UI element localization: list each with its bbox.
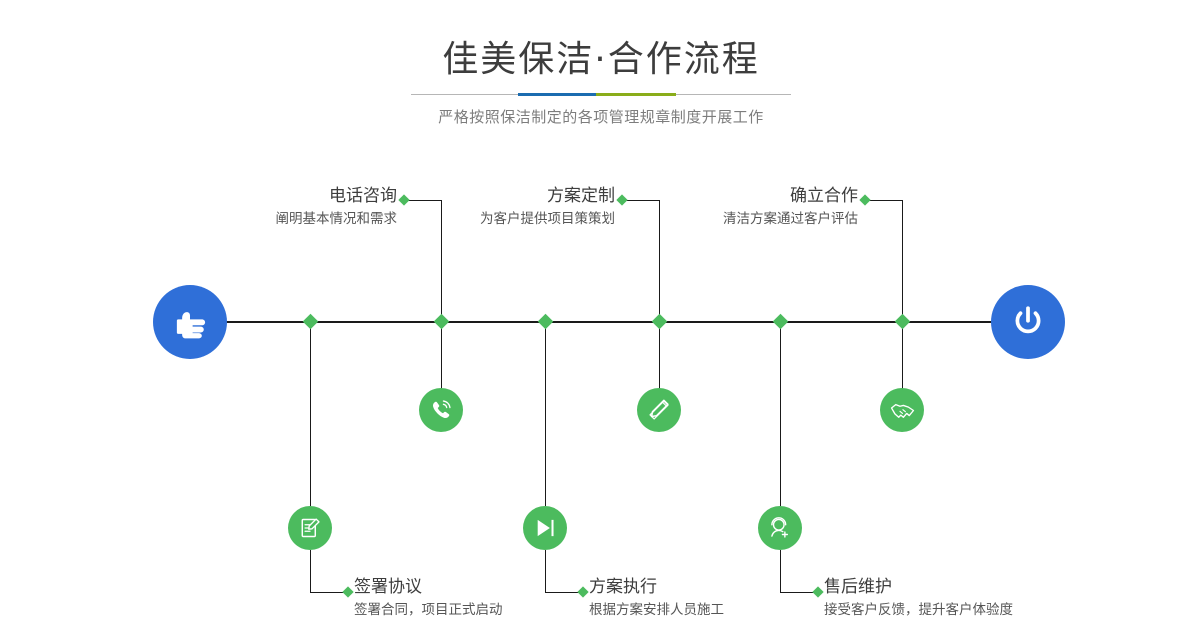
timeline-axis (158, 321, 1044, 323)
step-6-title: 售后维护 (824, 576, 1013, 598)
step-4-label: 方案执行 根据方案安排人员施工 (589, 576, 724, 621)
step-6-axis-marker (773, 314, 789, 330)
divider-segment-olive (596, 93, 676, 96)
pencil-design-icon (646, 397, 672, 423)
document-pen-icon (297, 515, 323, 541)
step-2-line-up (310, 322, 311, 438)
step-4-desc: 根据方案安排人员施工 (589, 599, 724, 621)
step-5-icon-circle[interactable] (880, 388, 924, 432)
step-6-connector-down (780, 550, 781, 592)
step-4-title: 方案执行 (589, 576, 724, 598)
timeline-start-node[interactable] (153, 285, 227, 359)
phone-call-icon (428, 397, 454, 423)
step-6-label-marker (812, 586, 823, 597)
page-title: 佳美保洁·合作流程 (0, 38, 1202, 82)
step-1-icon-circle[interactable] (419, 388, 463, 432)
step-2-connector-down (310, 550, 311, 592)
step-4-icon-circle[interactable] (523, 506, 567, 550)
step-5-desc: 清洁方案通过客户评估 (601, 208, 858, 230)
title-divider (411, 93, 791, 96)
step-6-icon-circle[interactable] (758, 506, 802, 550)
step-3-title: 方案定制 (358, 185, 615, 207)
step-5-connector-horizontal (865, 200, 903, 201)
step-1-axis-marker (434, 314, 450, 330)
step-2-axis-marker (303, 314, 319, 330)
step-4-label-marker (577, 586, 588, 597)
page-subtitle: 严格按照保洁制定的各项管理规章制度开展工作 (0, 106, 1202, 127)
customer-service-add-icon (767, 515, 793, 541)
step-2-label-marker (342, 586, 353, 597)
step-4-connector-down (545, 550, 546, 592)
step-5-connector-vertical (902, 200, 903, 366)
step-6-desc: 接受客户反馈，提升客户体验度 (824, 599, 1013, 621)
step-2-label: 签署协议 签署合同，项目正式启动 (354, 576, 503, 621)
step-5-label: 确立合作 清洁方案通过客户评估 (601, 185, 858, 230)
step-5-label-marker (859, 194, 870, 205)
handshake-icon (889, 397, 916, 424)
step-3-desc: 为客户提供项目策策划 (358, 208, 615, 230)
process-timeline: 电话咨询 阐明基本情况和需求 (0, 150, 1202, 502)
step-2-title: 签署协议 (354, 576, 503, 598)
play-execute-icon (532, 515, 558, 541)
step-3-axis-marker (652, 314, 668, 330)
step-3-label: 方案定制 为客户提供项目策策划 (358, 185, 615, 230)
divider-segment-blue (518, 93, 596, 96)
step-4-stem (545, 322, 546, 506)
step-6-label: 售后维护 接受客户反馈，提升客户体验度 (824, 576, 1013, 621)
pointing-hand-icon (169, 301, 211, 343)
header: 佳美保洁·合作流程 严格按照保洁制定的各项管理规章制度开展工作 (0, 0, 1202, 150)
step-5-title: 确立合作 (601, 185, 858, 207)
power-icon (1008, 302, 1048, 342)
step-2-desc: 签署合同，项目正式启动 (354, 599, 503, 621)
step-4-axis-marker (538, 314, 554, 330)
step-5-axis-marker (895, 314, 911, 330)
step-2-icon-circle[interactable] (288, 506, 332, 550)
step-3-icon-circle[interactable] (637, 388, 681, 432)
step-6-stem (780, 322, 781, 506)
timeline-end-node[interactable] (991, 285, 1065, 359)
